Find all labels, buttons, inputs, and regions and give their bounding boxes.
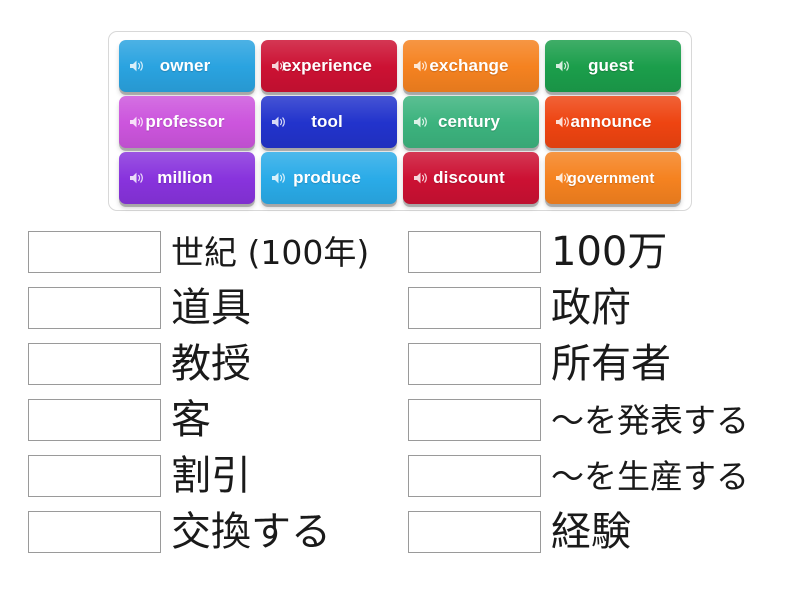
word-tile-bank: ownerexperienceexchangeguestprofessortoo… [108, 31, 692, 211]
word-tile-century[interactable]: century [403, 96, 539, 148]
answer-drop-box[interactable] [28, 511, 161, 553]
word-tile-label: discount [431, 168, 511, 188]
answer-drop-box[interactable] [408, 511, 541, 553]
answer-row: 政府 [408, 280, 788, 336]
tile-row: ownerexperienceexchangeguest [116, 40, 684, 92]
tile-row: professortoolcenturyannounce [116, 96, 684, 148]
speaker-icon[interactable] [555, 59, 571, 73]
answer-prompt-text: 交換する [171, 512, 331, 552]
answer-prompt-text: ～を発表する [551, 404, 749, 437]
answer-row: 所有者 [408, 336, 788, 392]
speaker-icon[interactable] [271, 59, 287, 73]
word-tile-label: experience [280, 56, 378, 76]
speaker-icon[interactable] [129, 59, 145, 73]
answer-prompt-text: 政府 [551, 288, 631, 328]
answer-drop-box[interactable] [408, 287, 541, 329]
speaker-icon[interactable] [129, 115, 145, 129]
word-tile-label: government [566, 170, 661, 187]
word-tile-label: exchange [427, 56, 514, 76]
answer-drop-box[interactable] [28, 343, 161, 385]
word-tile-label: announce [568, 112, 657, 132]
answer-drop-box[interactable] [408, 399, 541, 441]
speaker-icon[interactable] [555, 115, 571, 129]
answer-prompt-text: 経験 [551, 512, 631, 552]
tile-row: millionproducediscountgovernment [116, 152, 684, 204]
answer-drop-box[interactable] [28, 231, 161, 273]
word-tile-label: owner [158, 56, 217, 76]
word-tile-discount[interactable]: discount [403, 152, 539, 204]
speaker-icon[interactable] [413, 171, 429, 185]
answer-row: 経験 [408, 504, 788, 560]
answer-row: 客 [28, 392, 408, 448]
answer-row: ～を発表する [408, 392, 788, 448]
answer-drop-box[interactable] [408, 231, 541, 273]
word-tile-million[interactable]: million [119, 152, 255, 204]
word-tile-produce[interactable]: produce [261, 152, 397, 204]
answer-column-right: 100万政府所有者～を発表する～を生産する経験 [408, 224, 788, 560]
word-tile-experience[interactable]: experience [261, 40, 397, 92]
answer-prompt-text: 割引 [171, 456, 251, 496]
word-tile-guest[interactable]: guest [545, 40, 681, 92]
speaker-icon[interactable] [271, 115, 287, 129]
answer-drop-box[interactable] [408, 455, 541, 497]
answer-prompt-text: 100万 [551, 232, 667, 272]
word-tile-label: produce [291, 168, 367, 188]
answer-drop-box[interactable] [28, 455, 161, 497]
answer-drop-box[interactable] [408, 343, 541, 385]
speaker-icon[interactable] [555, 171, 571, 185]
answer-prompt-text: 教授 [171, 344, 251, 384]
answer-prompt-text: 道具 [171, 288, 251, 328]
answer-row: 100万 [408, 224, 788, 280]
speaker-icon[interactable] [271, 171, 287, 185]
answer-row: 交換する [28, 504, 408, 560]
answer-row: 世紀 (100年) [28, 224, 408, 280]
speaker-icon[interactable] [129, 171, 145, 185]
answer-prompt-text: 所有者 [551, 344, 671, 384]
word-tile-government[interactable]: government [545, 152, 681, 204]
answer-prompt-text: 客 [171, 400, 211, 440]
word-tile-professor[interactable]: professor [119, 96, 255, 148]
word-tile-announce[interactable]: announce [545, 96, 681, 148]
word-tile-label: million [155, 168, 218, 188]
answer-row: 割引 [28, 448, 408, 504]
word-tile-label: professor [143, 112, 230, 132]
word-tile-label: guest [586, 56, 640, 76]
word-tile-label: tool [309, 112, 349, 132]
word-tile-owner[interactable]: owner [119, 40, 255, 92]
answer-column-left: 世紀 (100年)道具教授客割引交換する [28, 224, 408, 560]
word-tile-tool[interactable]: tool [261, 96, 397, 148]
answer-drop-box[interactable] [28, 399, 161, 441]
word-tile-exchange[interactable]: exchange [403, 40, 539, 92]
speaker-icon[interactable] [413, 115, 429, 129]
answer-prompt-text: 世紀 (100年) [171, 236, 369, 269]
answer-prompt-text: ～を生産する [551, 460, 749, 493]
answer-drop-box[interactable] [28, 287, 161, 329]
answer-row: ～を生産する [408, 448, 788, 504]
speaker-icon[interactable] [413, 59, 429, 73]
answer-row: 道具 [28, 280, 408, 336]
answer-row: 教授 [28, 336, 408, 392]
word-tile-label: century [436, 112, 506, 132]
